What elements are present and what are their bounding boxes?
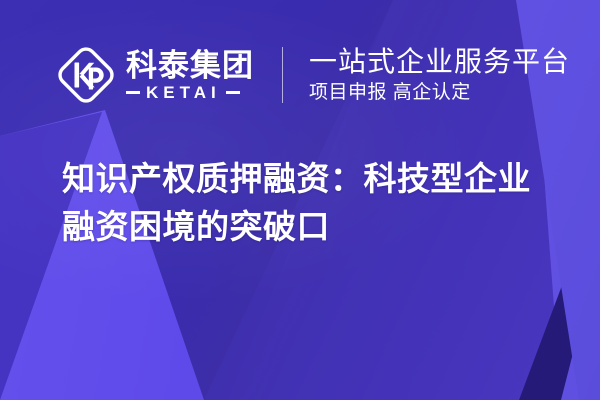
slogan-secondary: 项目申报 高企认定 <box>309 80 570 106</box>
wordmark-rule-left-icon <box>126 91 140 94</box>
brand-wordmark: 科泰集团 KETAI <box>126 45 254 105</box>
brand-name-en-row: KETAI <box>126 84 254 101</box>
brand-logo[interactable]: 科泰集团 KETAI <box>56 45 254 105</box>
promo-banner: 科泰集团 KETAI 一站式企业服务平台 项目申报 高企认定 知识产权质押融资：… <box>0 0 600 400</box>
brand-name-en: KETAI <box>146 84 221 101</box>
header-vertical-divider <box>282 47 283 103</box>
wordmark-rule-right-icon <box>226 91 240 94</box>
ketai-kp-diamond-icon <box>56 45 116 105</box>
slogan-primary: 一站式企业服务平台 <box>309 45 570 79</box>
brand-slogan: 一站式企业服务平台 项目申报 高企认定 <box>309 44 570 106</box>
banner-header: 科泰集团 KETAI 一站式企业服务平台 项目申报 高企认定 <box>56 38 570 112</box>
article-headline: 知识产权质押融资：科技型企业融资困境的突破口 <box>62 155 562 251</box>
brand-name-cn: 科泰集团 <box>126 49 254 82</box>
